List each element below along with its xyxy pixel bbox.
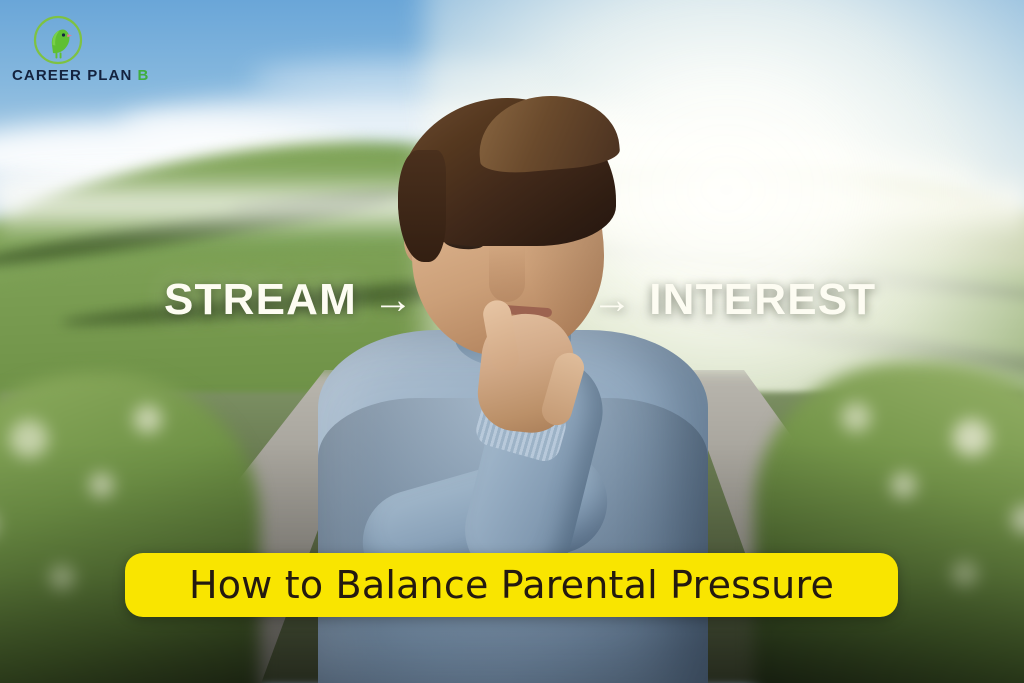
title-banner: How to Balance Parental Pressure bbox=[125, 553, 898, 617]
hair-side bbox=[398, 150, 446, 262]
banner-title-text: How to Balance Parental Pressure bbox=[189, 566, 834, 604]
brand-suffix: B bbox=[137, 68, 148, 83]
arrow-right-icon: → bbox=[373, 280, 414, 320]
brand-name: CAREER PLAN bbox=[12, 68, 132, 83]
bird-logo-icon bbox=[32, 14, 84, 66]
overlay-text-interest: → INTEREST bbox=[592, 278, 876, 322]
overlay-text-stream: STREAM → bbox=[164, 278, 414, 322]
arrow-right-icon: → bbox=[592, 280, 633, 320]
stream-label: STREAM bbox=[164, 278, 357, 322]
interest-label: INTEREST bbox=[649, 278, 876, 322]
nose bbox=[489, 244, 525, 302]
featured-image-canvas: STREAM → → INTEREST How to Balance Paren… bbox=[0, 0, 1024, 683]
brand-wordmark: CAREER PLAN B bbox=[12, 68, 162, 83]
brand-logo[interactable]: CAREER PLAN B bbox=[12, 14, 162, 88]
